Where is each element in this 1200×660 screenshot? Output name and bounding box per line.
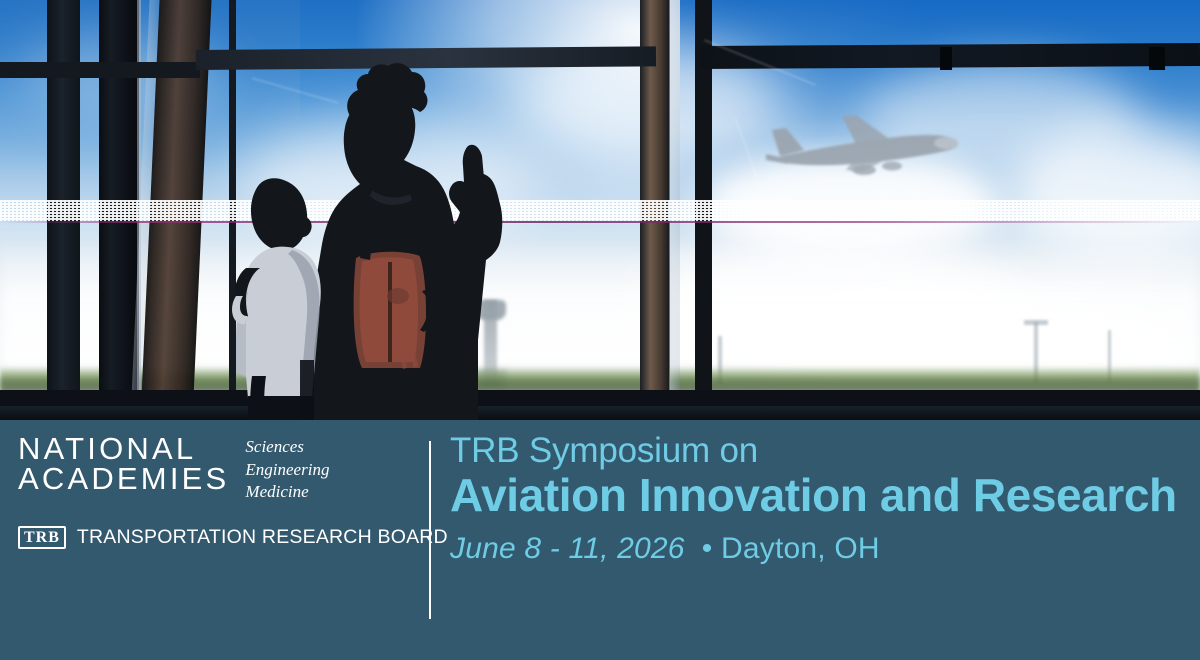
event-title-line1: TRB Symposium on (450, 432, 1190, 469)
logo-line-academies: ACADEMIES (18, 464, 229, 494)
event-meta: June 8 - 11, 2026 • Dayton, OH (450, 532, 1190, 565)
trb-badge-label: TRB (24, 529, 60, 546)
trb-badge: TRB (18, 526, 66, 549)
logo-disciplines: Sciences Engineering Medicine (245, 436, 329, 504)
event-title-block: TRB Symposium on Aviation Innovation and… (450, 432, 1190, 565)
logo-discipline-sciences: Sciences (245, 436, 329, 459)
adult-silhouette (310, 63, 502, 420)
organization-logo: NATIONAL ACADEMIES Sciences Engineering … (18, 434, 408, 549)
title-banner: NATIONAL ACADEMIES Sciences Engineering … (0, 420, 1200, 660)
event-location: Dayton, OH (721, 532, 880, 565)
vertical-divider (429, 441, 431, 619)
trb-full-name: TRANSPORTATION RESEARCH BOARD (77, 526, 448, 549)
event-date: June 8 - 11, 2026 (450, 532, 685, 565)
event-title-line2: Aviation Innovation and Research (450, 471, 1190, 521)
terminal-window-photo (0, 0, 1200, 420)
logo-discipline-engineering: Engineering (245, 459, 329, 482)
trb-logo: TRB TRANSPORTATION RESEARCH BOARD (18, 526, 408, 549)
logo-discipline-medicine: Medicine (245, 481, 329, 504)
national-academies-wordmark: NATIONAL ACADEMIES (18, 434, 229, 494)
national-academies-logo: NATIONAL ACADEMIES Sciences Engineering … (18, 434, 408, 504)
event-meta-separator: • (702, 532, 713, 565)
logo-line-national: NATIONAL (18, 434, 229, 464)
people-silhouettes (0, 0, 1200, 420)
promo-banner-image: NATIONAL ACADEMIES Sciences Engineering … (0, 0, 1200, 660)
